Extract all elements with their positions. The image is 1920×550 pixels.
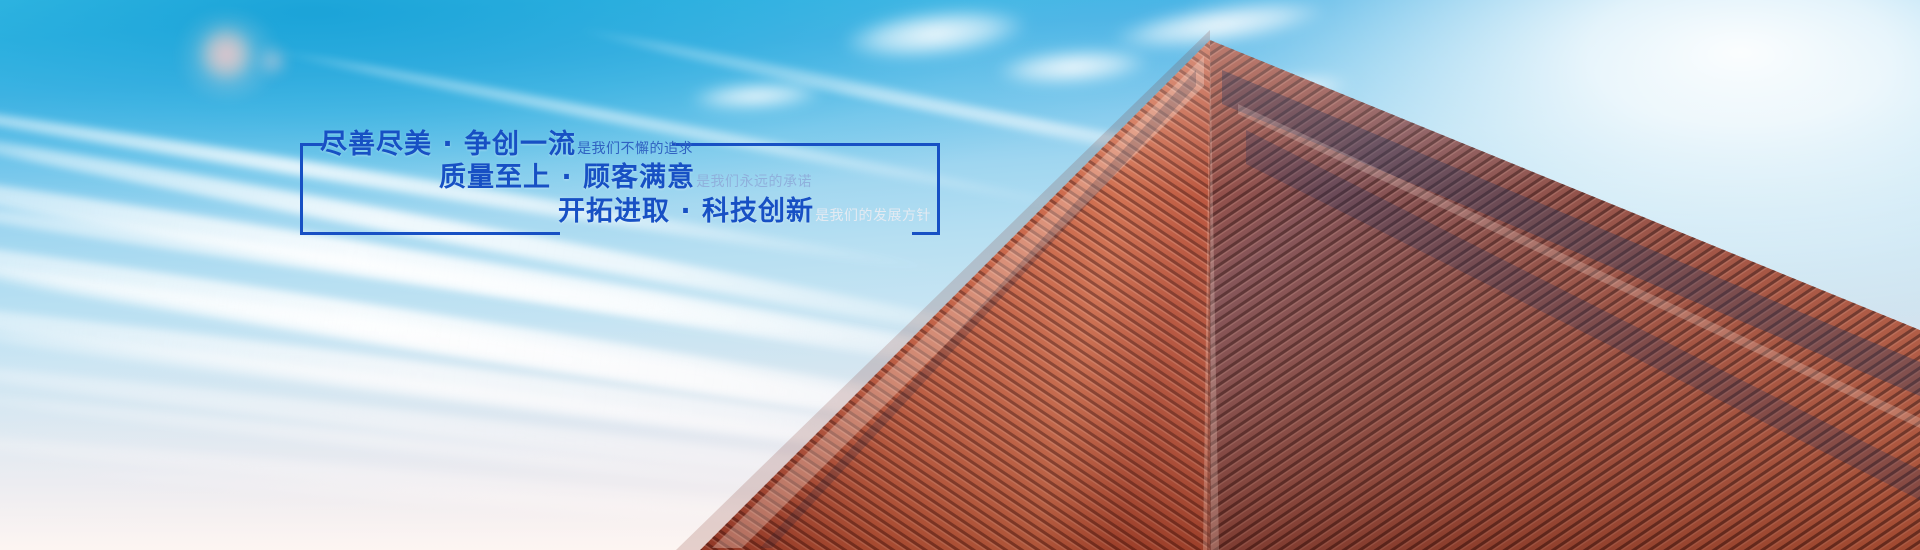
slogan-headline-2: 质量至上 · 顾客满意 <box>439 164 695 191</box>
slogan-headline-1: 尽善尽美 · 争创一流 <box>320 131 576 158</box>
hero-banner: 尽善尽美 · 争创一流 是我们不懈的追求 质量至上 · 顾客满意 是我们永远的承… <box>0 0 1920 550</box>
slogan-headline-3: 开拓进取 · 科技创新 <box>558 198 814 225</box>
slogan-tail-2: 是我们永远的承诺 <box>696 175 812 189</box>
slogan-lines: 尽善尽美 · 争创一流 是我们不懈的追求 质量至上 · 顾客满意 是我们永远的承… <box>300 143 940 235</box>
horizon-haze <box>0 319 1920 550</box>
slogan-tail-3: 是我们的发展方针 <box>815 209 931 223</box>
slogan-line-2: 质量至上 · 顾客满意 是我们永远的承诺 <box>439 164 812 191</box>
slogan-line-3: 开拓进取 · 科技创新 是我们的发展方针 <box>558 198 931 225</box>
slogan-block: 尽善尽美 · 争创一流 是我们不懈的追求 质量至上 · 顾客满意 是我们永远的承… <box>300 143 940 235</box>
slogan-tail-1: 是我们不懈的追求 <box>577 142 693 156</box>
slogan-line-1: 尽善尽美 · 争创一流 是我们不懈的追求 <box>320 131 693 158</box>
